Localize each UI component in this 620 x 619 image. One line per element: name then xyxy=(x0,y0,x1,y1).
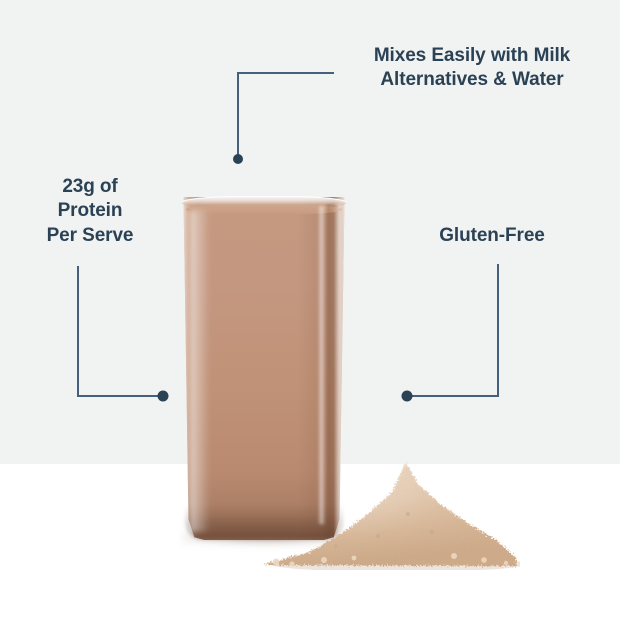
callout-label-gluten-free: Gluten-Free xyxy=(404,224,580,248)
protein-powder-pile xyxy=(258,440,520,570)
leader-line-mixes-easily xyxy=(230,64,350,168)
infographic-canvas: Mixes Easily with Milk Alternatives & Wa… xyxy=(0,0,620,619)
glass-highlight-left xyxy=(190,210,210,532)
leader-line-protein xyxy=(72,260,180,408)
callout-label-protein: 23g of Protein Per Serve xyxy=(16,175,164,248)
callout-label-mixes-easily: Mixes Easily with Milk Alternatives & Wa… xyxy=(348,44,596,93)
leader-line-gluten-free xyxy=(398,258,506,408)
